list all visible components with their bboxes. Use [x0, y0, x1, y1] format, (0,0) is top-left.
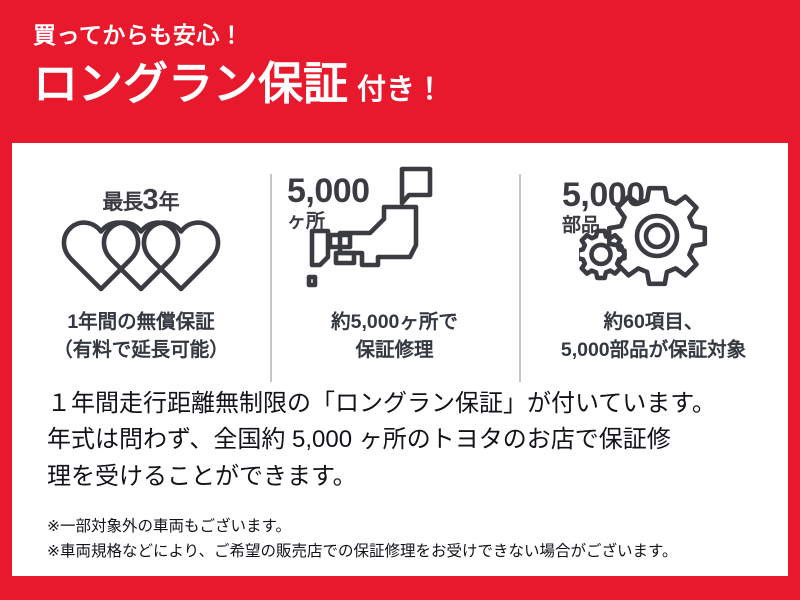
header-title-suffix: 付き！: [357, 76, 444, 105]
feature-icon-area: 5,000 ヶ所: [270, 157, 519, 307]
feature-caption-line2: 5,000部品が保証対象: [561, 337, 746, 365]
feature-caption-line2: （有料で延長可能）: [53, 337, 229, 365]
feature-icon-area: 最長3年: [12, 157, 270, 307]
gears-overlay-unit: 部品: [562, 216, 645, 235]
hearts-overlay-unit: 年: [159, 191, 180, 214]
header-eyebrow: 買ってからも安心！: [33, 24, 800, 47]
feature-columns: 最長3年 1年間の無償保証 （有料で延長可能）: [12, 157, 788, 372]
gears-overlay-label: 5,000 部品: [562, 178, 645, 235]
content-panel: 最長3年 1年間の無償保証 （有料で延長可能）: [12, 143, 788, 576]
feature-caption-line1: 約60項目、: [561, 309, 746, 337]
hearts-overlay-prefix: 最長: [102, 191, 142, 214]
main-description-line3: 理を受けることができます。: [47, 459, 767, 495]
hearts-overlay-label: 最長3年: [12, 186, 270, 215]
feature-covered-parts: 5,000 部品: [519, 157, 788, 372]
footnote-1: ※一部対象外の車両もございます。: [47, 514, 772, 539]
japan-overlay-unit: ヶ所: [287, 212, 370, 231]
japan-overlay-label: 5,000 ヶ所: [287, 174, 370, 231]
hearts-overlay-number: 3: [142, 184, 158, 216]
feature-caption: 約60項目、 5,000部品が保証対象: [561, 309, 746, 364]
feature-caption-line1: 1年間の無償保証: [53, 309, 229, 337]
footnotes: ※一部対象外の車両もございます。 ※車両規格などにより、ご希望の販売店での保証修…: [47, 514, 772, 564]
feature-icon-area: 5,000 部品: [519, 157, 788, 307]
japan-overlay-number: 5,000: [287, 174, 370, 208]
feature-caption: 約5,000ヶ所で 保証修理: [331, 309, 458, 364]
header-banner: 買ってからも安心！ ロングラン保証 付き！: [0, 0, 800, 143]
feature-caption-line1: 約5,000ヶ所で: [331, 309, 458, 337]
footnote-2: ※車両規格などにより、ご希望の販売店での保証修理をお受けできない場合がございます…: [47, 539, 772, 564]
promo-banner: 買ってからも安心！ ロングラン保証 付き！ 最長3年: [0, 0, 800, 600]
feature-warranty-period: 最長3年 1年間の無償保証 （有料で延長可能）: [12, 157, 270, 372]
main-description-line2: 年式は問わず、全国約 5,000 ヶ所のトヨタのお店で保証修: [47, 422, 767, 458]
feature-caption-line2: 保証修理: [331, 337, 458, 365]
gears-overlay-number: 5,000: [562, 178, 645, 212]
feature-service-locations: 5,000 ヶ所: [270, 157, 519, 372]
header-title: ロングラン保証 付き！: [33, 61, 800, 106]
three-hearts-icon: [55, 215, 227, 298]
main-description-line1: １年間走行距離無制限の「ロングラン保証」が付いています。: [47, 386, 767, 422]
main-description: １年間走行距離無制限の「ロングラン保証」が付いています。 年式は問わず、全国約 …: [47, 386, 767, 495]
feature-caption: 1年間の無償保証 （有料で延長可能）: [53, 309, 229, 364]
header-title-main: ロングラン保証: [33, 61, 348, 106]
